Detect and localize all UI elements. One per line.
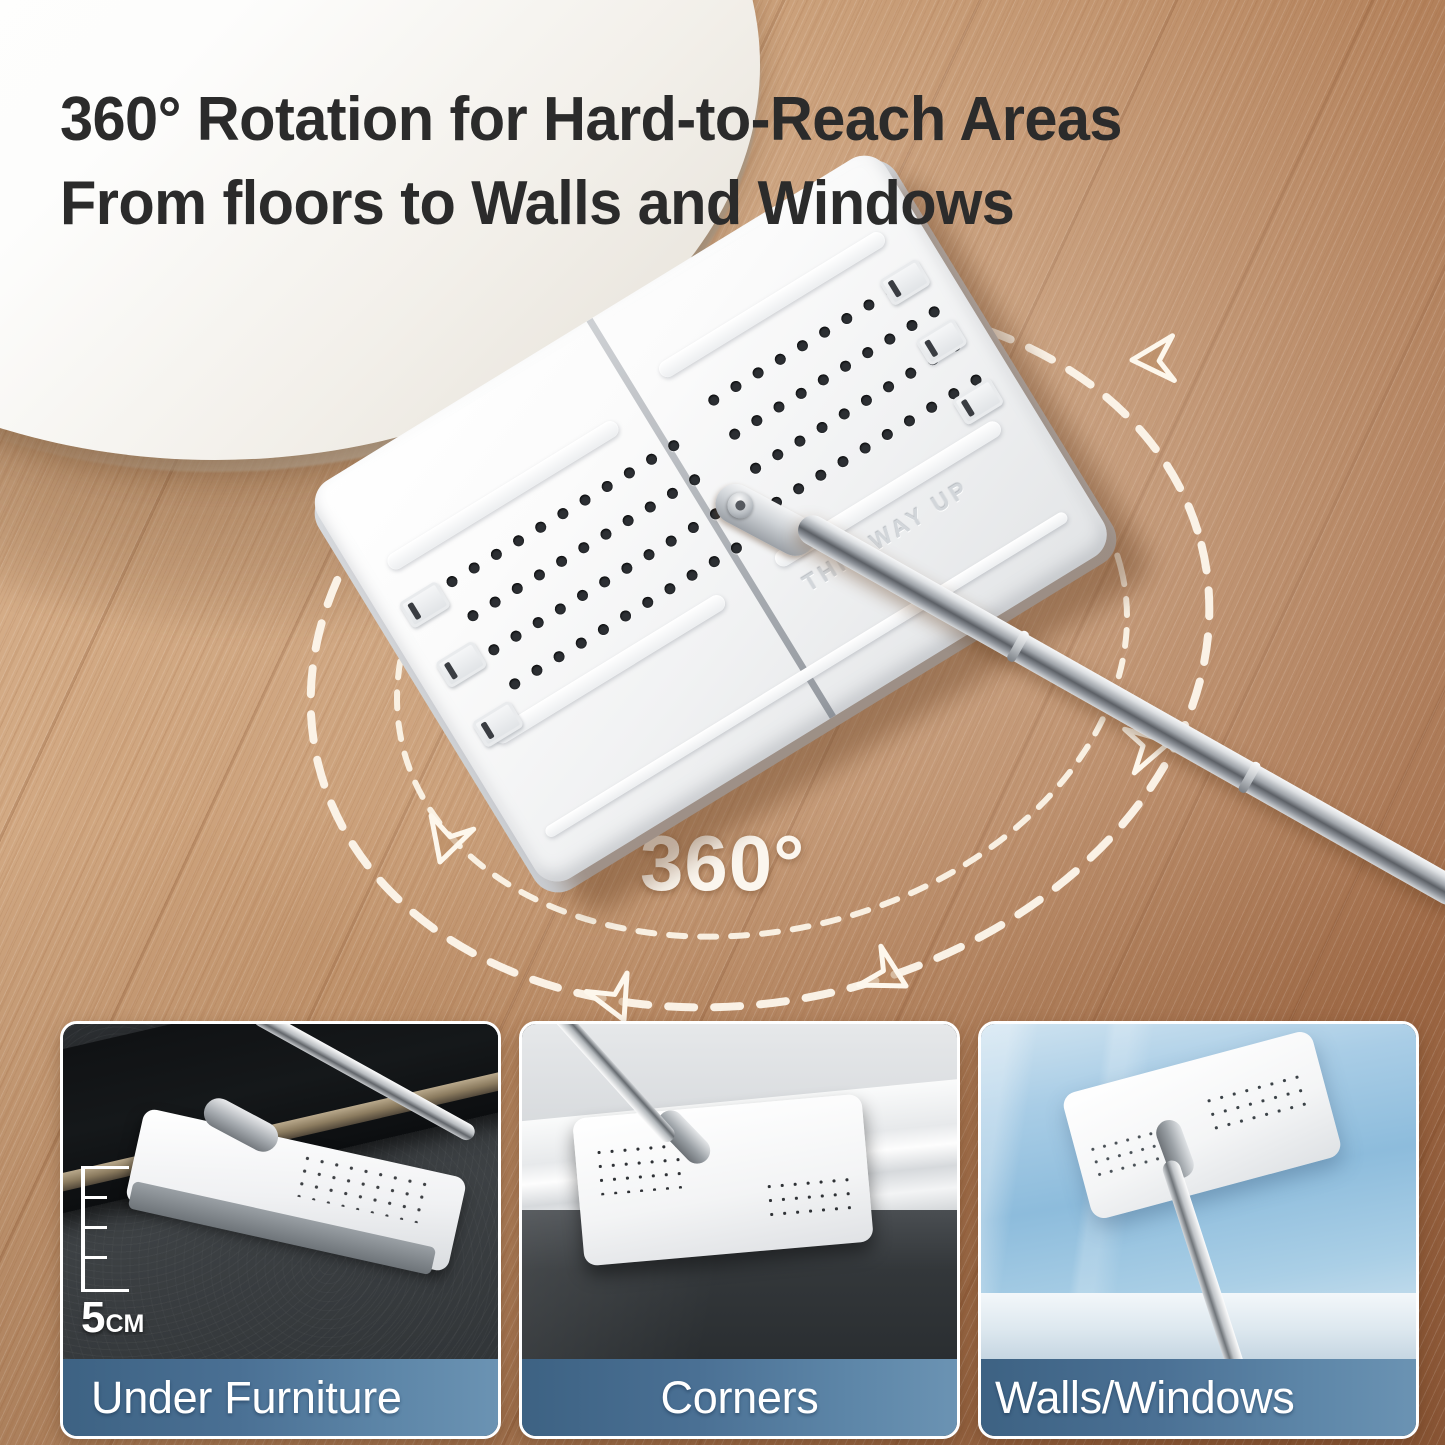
mop-pad-clip [471,700,524,749]
feature-card-under-furniture[interactable]: 5CM Under Furniture [60,1021,501,1439]
headline-line-1: 360° Rotation for Hard-to-Reach Areas [60,78,1346,162]
page-headline: 360° Rotation for Hard-to-Reach Areas Fr… [60,78,1346,246]
feature-card-corners[interactable]: Corners [519,1021,960,1439]
measurement-value: 5 [81,1293,105,1342]
card-photo-corners [522,1024,957,1359]
feature-cards: 5CM Under Furniture Corners [0,1021,1445,1445]
feature-card-walls-windows[interactable]: Walls/Windows [978,1021,1419,1439]
window-sill [981,1293,1416,1359]
card-label-bar: Corners [522,1359,957,1436]
card-photo-walls-windows [981,1024,1416,1359]
card-label-text: Corners [522,1372,957,1424]
pole-joint-ring [1006,629,1031,663]
card-label-text: Under Furniture [63,1372,498,1424]
headline-line-2: From floors to Walls and Windows [60,162,1346,246]
mop-pad-clip [398,581,451,630]
mop-pad-clip [435,640,488,689]
product-feature-image: 360° [0,0,1445,1445]
measurement-unit: CM [105,1310,144,1338]
card-label-bar: Under Furniture [63,1359,498,1436]
card-photo-under-furniture: 5CM [63,1024,498,1359]
mop-perforations [762,1172,860,1226]
height-ruler-icon [81,1166,131,1292]
card-label-bar: Walls/Windows [981,1359,1416,1436]
card-label-text: Walls/Windows [981,1372,1416,1424]
pole-joint-ring [1237,760,1262,794]
measurement-label: 5CM [81,1296,144,1346]
mop-perforations [592,1138,688,1196]
